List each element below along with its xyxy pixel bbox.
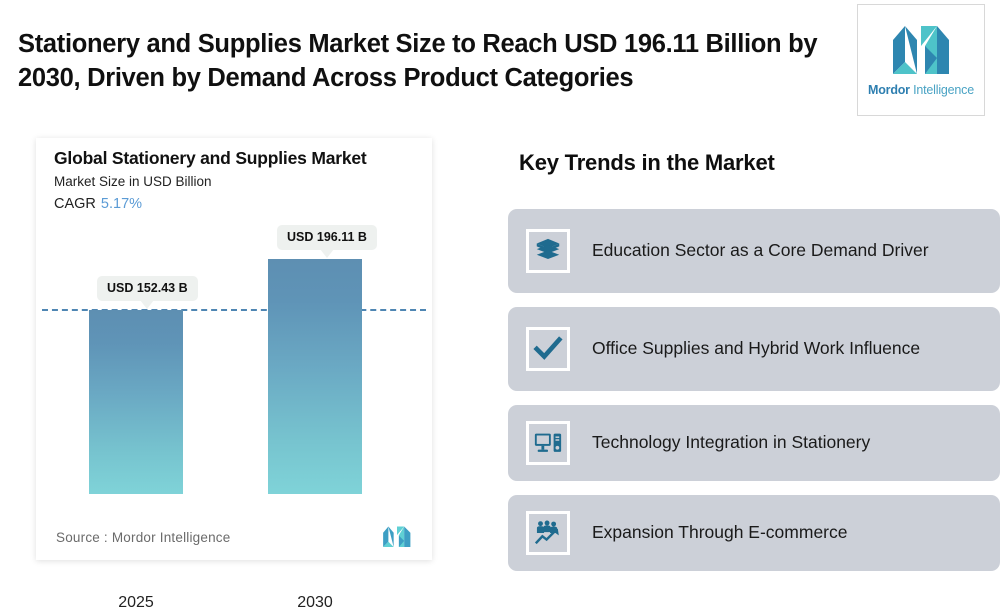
bar-value-label: USD 152.43 B bbox=[97, 276, 198, 301]
brand-name-light: Intelligence bbox=[910, 83, 974, 97]
bar-2030 bbox=[268, 259, 362, 494]
source-label: Source : bbox=[56, 530, 108, 545]
cagr-row: CAGR5.17% bbox=[54, 196, 142, 212]
trend-label: Technology Integration in Stationery bbox=[592, 431, 870, 454]
x-axis-label-2030: 2030 bbox=[268, 594, 362, 612]
source-text: Source : Mordor Intelligence bbox=[56, 530, 230, 545]
trend-label: Expansion Through E-commerce bbox=[592, 521, 848, 544]
header: Stationery and Supplies Market Size to R… bbox=[0, 0, 1000, 120]
cagr-label: CAGR bbox=[54, 196, 96, 212]
brand-logo: Mordor Intelligence bbox=[857, 4, 985, 116]
people-growth-chart-icon bbox=[526, 511, 570, 555]
trend-list: Education Sector as a Core Demand Driver… bbox=[508, 209, 1000, 585]
trend-card-education[interactable]: Education Sector as a Core Demand Driver bbox=[508, 209, 1000, 293]
page-title: Stationery and Supplies Market Size to R… bbox=[18, 28, 848, 96]
bar-2025 bbox=[89, 310, 183, 494]
bar-group-2030 bbox=[268, 259, 362, 494]
chart-plot-area: USD 152.43 B USD 196.11 B 2025 2030 bbox=[36, 234, 432, 494]
brand-logo-wordmark: Mordor Intelligence bbox=[868, 83, 974, 97]
trend-card-technology[interactable]: Technology Integration in Stationery bbox=[508, 405, 1000, 481]
desktop-computer-icon bbox=[526, 421, 570, 465]
cagr-value: 5.17% bbox=[101, 196, 142, 212]
bar-value-label: USD 196.11 B bbox=[277, 225, 377, 250]
trends-heading: Key Trends in the Market bbox=[519, 150, 775, 176]
trend-card-office-supplies[interactable]: Office Supplies and Hybrid Work Influenc… bbox=[508, 307, 1000, 391]
trend-label: Education Sector as a Core Demand Driver bbox=[592, 239, 929, 262]
brand-name-bold: Mordor bbox=[868, 83, 910, 97]
trend-label: Office Supplies and Hybrid Work Influenc… bbox=[592, 337, 920, 360]
x-axis-label-2025: 2025 bbox=[89, 594, 183, 612]
mordor-intelligence-mark-icon bbox=[382, 526, 412, 548]
chart-title: Global Stationery and Supplies Market bbox=[54, 148, 367, 169]
checkmark-icon bbox=[526, 327, 570, 371]
source-row: Source : Mordor Intelligence bbox=[56, 526, 412, 548]
bar-group-2025 bbox=[89, 310, 183, 494]
chart-subtitle: Market Size in USD Billion bbox=[54, 174, 212, 189]
mordor-intelligence-logo-icon bbox=[891, 24, 951, 76]
source-name: Mordor Intelligence bbox=[112, 530, 231, 545]
chart-panel: Global Stationery and Supplies Market Ma… bbox=[36, 138, 432, 560]
books-stack-icon bbox=[526, 229, 570, 273]
